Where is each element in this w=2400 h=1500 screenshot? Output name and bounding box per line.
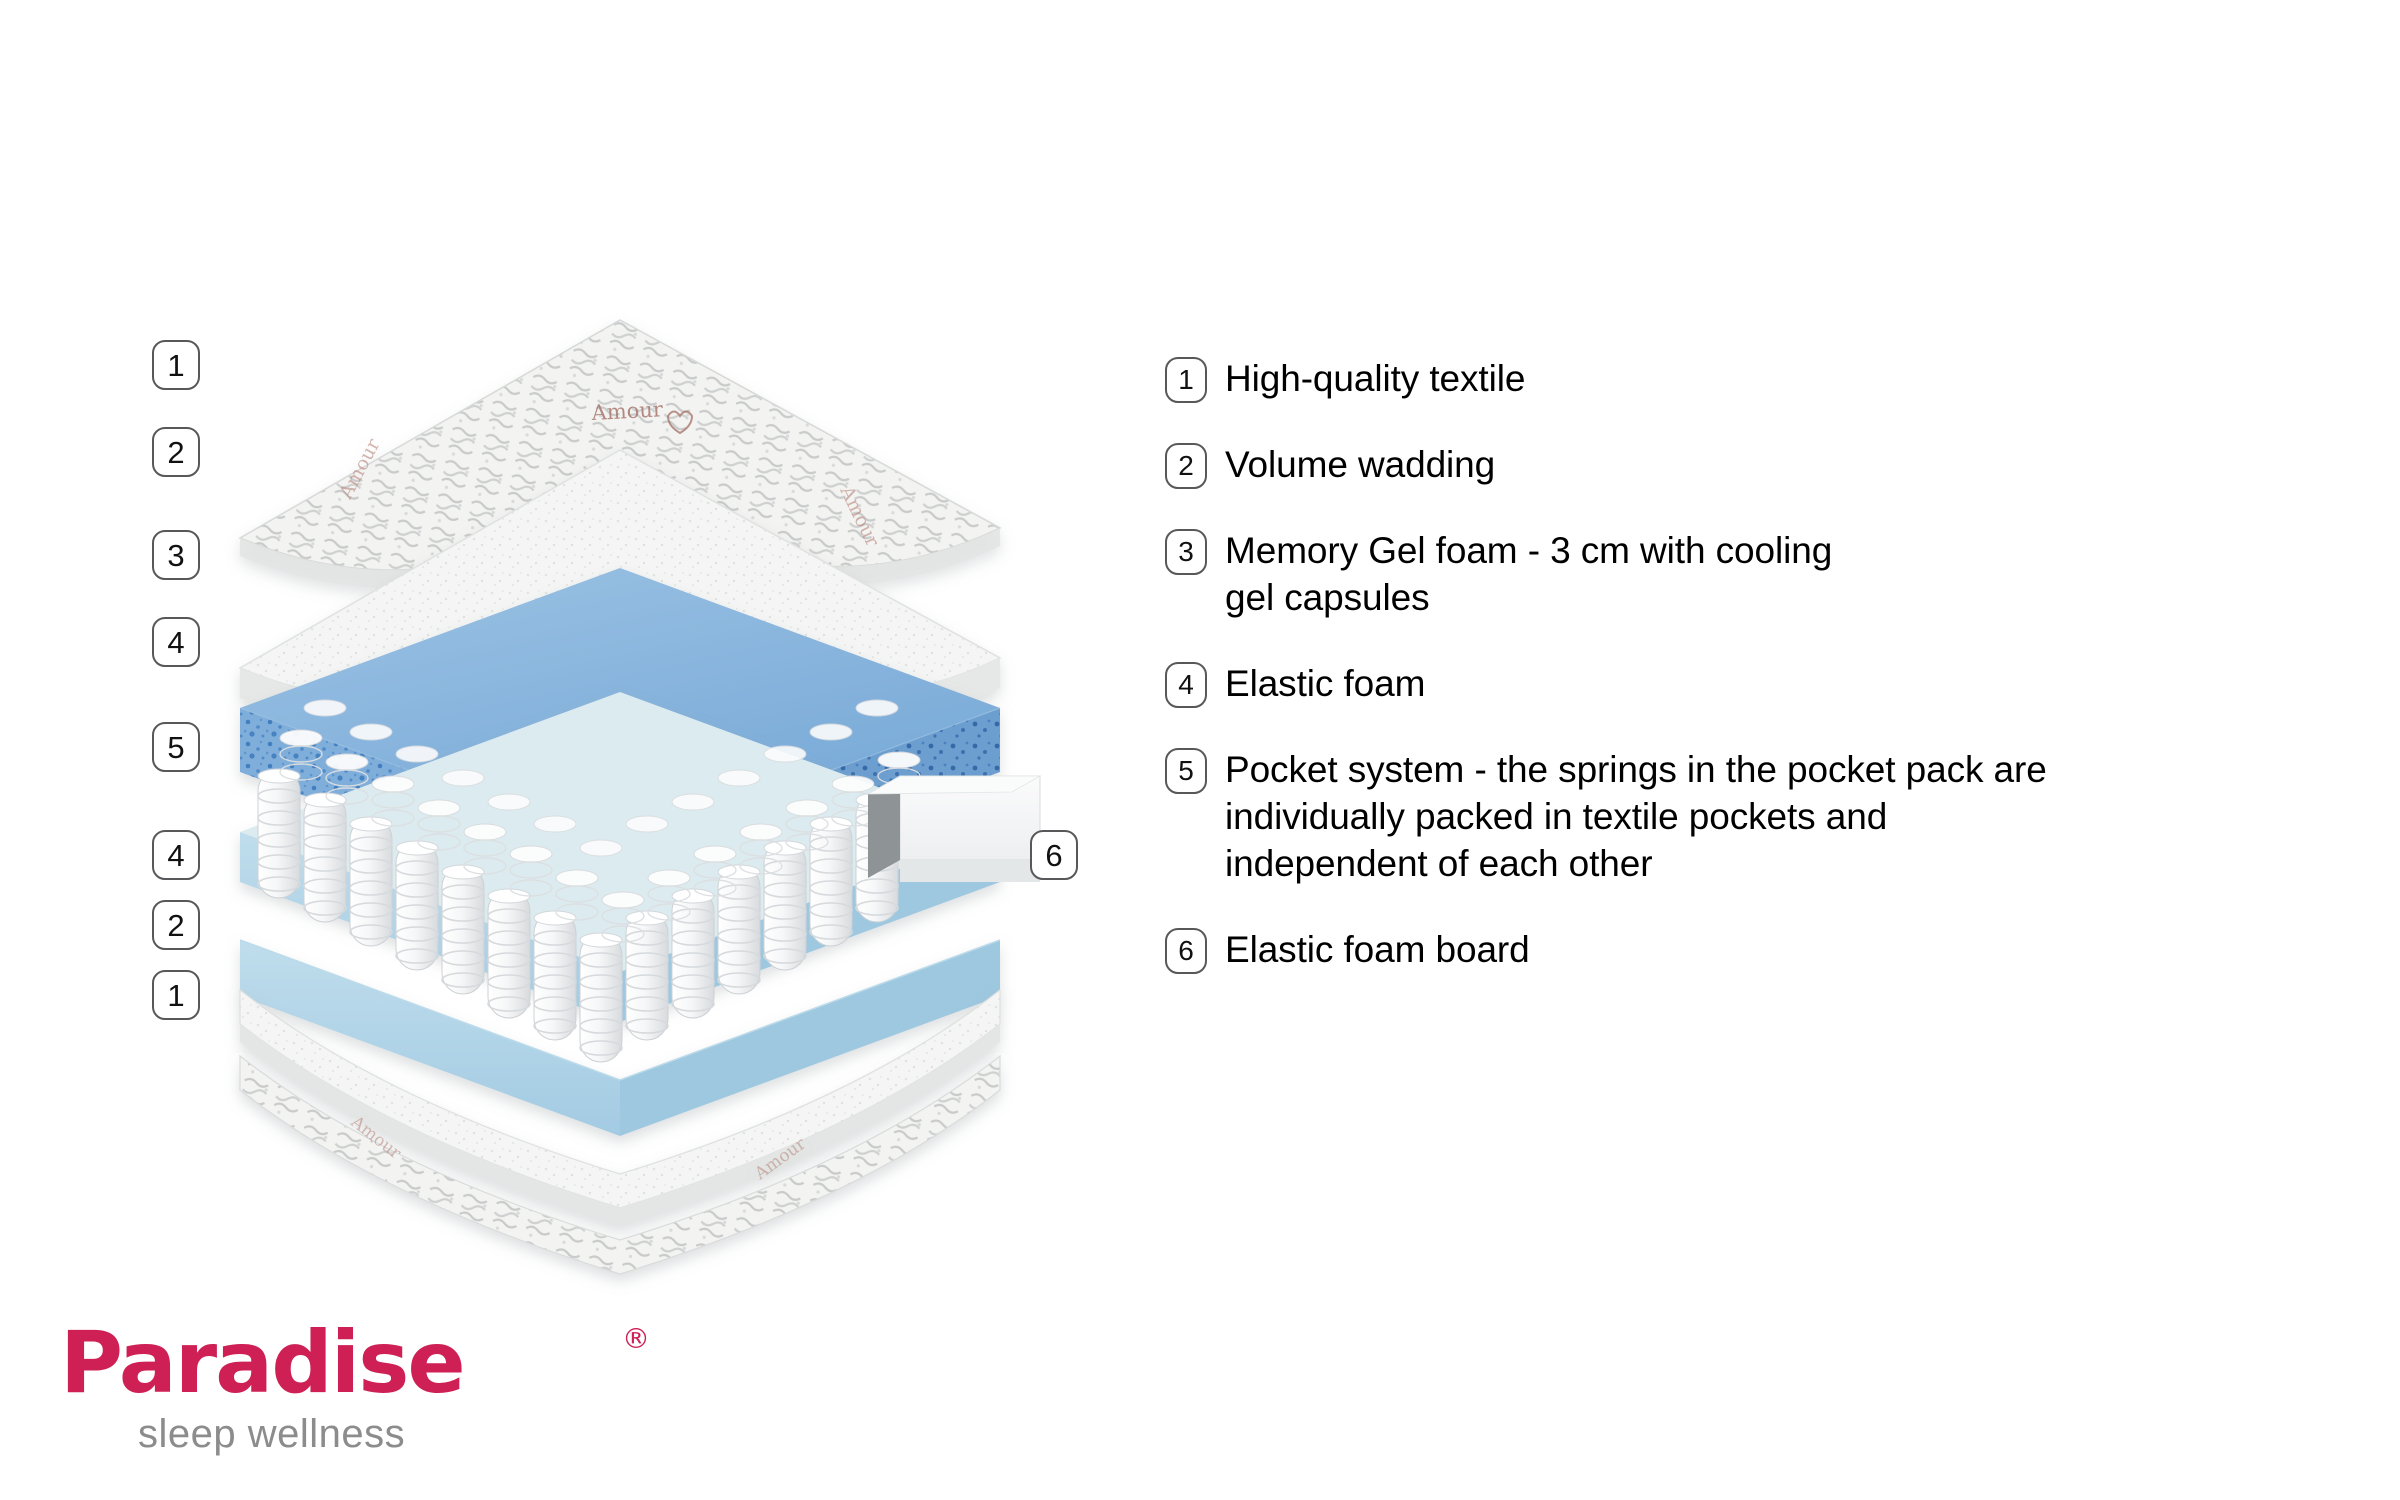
brand-logo: Paradise® sleep wellness xyxy=(60,1320,620,1457)
legend-list: 1High-quality textile2Volume wadding3Mem… xyxy=(1165,355,2345,1012)
legend-item-label: Volume wadding xyxy=(1225,441,1495,488)
legend-item-2: 2Volume wadding xyxy=(1165,441,2345,489)
diagram-callout-volume-wadding: 2 xyxy=(152,427,200,477)
legend-item-label: Pocket system - the springs in the pocke… xyxy=(1225,746,2047,888)
legend-item-1: 1High-quality textile xyxy=(1165,355,2345,403)
registered-trademark-icon: ® xyxy=(622,1322,650,1355)
legend-number-badge: 6 xyxy=(1165,928,1207,974)
diagram-callout-elastic-foam: 4 xyxy=(152,617,200,667)
legend-item-4: 4Elastic foam xyxy=(1165,660,2345,708)
legend-number-badge: 4 xyxy=(1165,662,1207,708)
brand-tagline: sleep wellness xyxy=(138,1412,620,1457)
diagram-callout-high-quality-textile: 1 xyxy=(152,340,200,390)
legend-item-label: Elastic foam xyxy=(1225,660,1425,707)
legend-item-label: Memory Gel foam - 3 cm with cooling gel … xyxy=(1225,527,1832,622)
brand-name: Paradise xyxy=(60,1320,464,1406)
legend-number-badge: 5 xyxy=(1165,748,1207,794)
legend-number-badge: 1 xyxy=(1165,357,1207,403)
diagram-callout-high-quality-textile-lower: 1 xyxy=(152,970,200,1020)
mattress-exploded-diagram: Amour Amour Amour xyxy=(200,300,1120,1220)
legend-item-6: 6Elastic foam board xyxy=(1165,926,2345,974)
diagram-callout-6: 6 xyxy=(1030,830,1078,880)
legend-number-badge: 2 xyxy=(1165,443,1207,489)
diagram-callout-elastic-foam-lower: 4 xyxy=(152,830,200,880)
legend-number-badge: 3 xyxy=(1165,529,1207,575)
svg-text:Amour: Amour xyxy=(590,397,664,425)
legend-item-label: High-quality textile xyxy=(1225,355,1525,402)
legend-item-label: Elastic foam board xyxy=(1225,926,1530,973)
legend-item-3: 3Memory Gel foam - 3 cm with cooling gel… xyxy=(1165,527,2345,622)
diagram-callout-volume-wadding-lower: 2 xyxy=(152,900,200,950)
diagram-callout-memory-gel-foam: 3 xyxy=(152,530,200,580)
diagram-callout-pocket-spring-system: 5 xyxy=(152,722,200,772)
legend-item-5: 5Pocket system - the springs in the pock… xyxy=(1165,746,2345,888)
